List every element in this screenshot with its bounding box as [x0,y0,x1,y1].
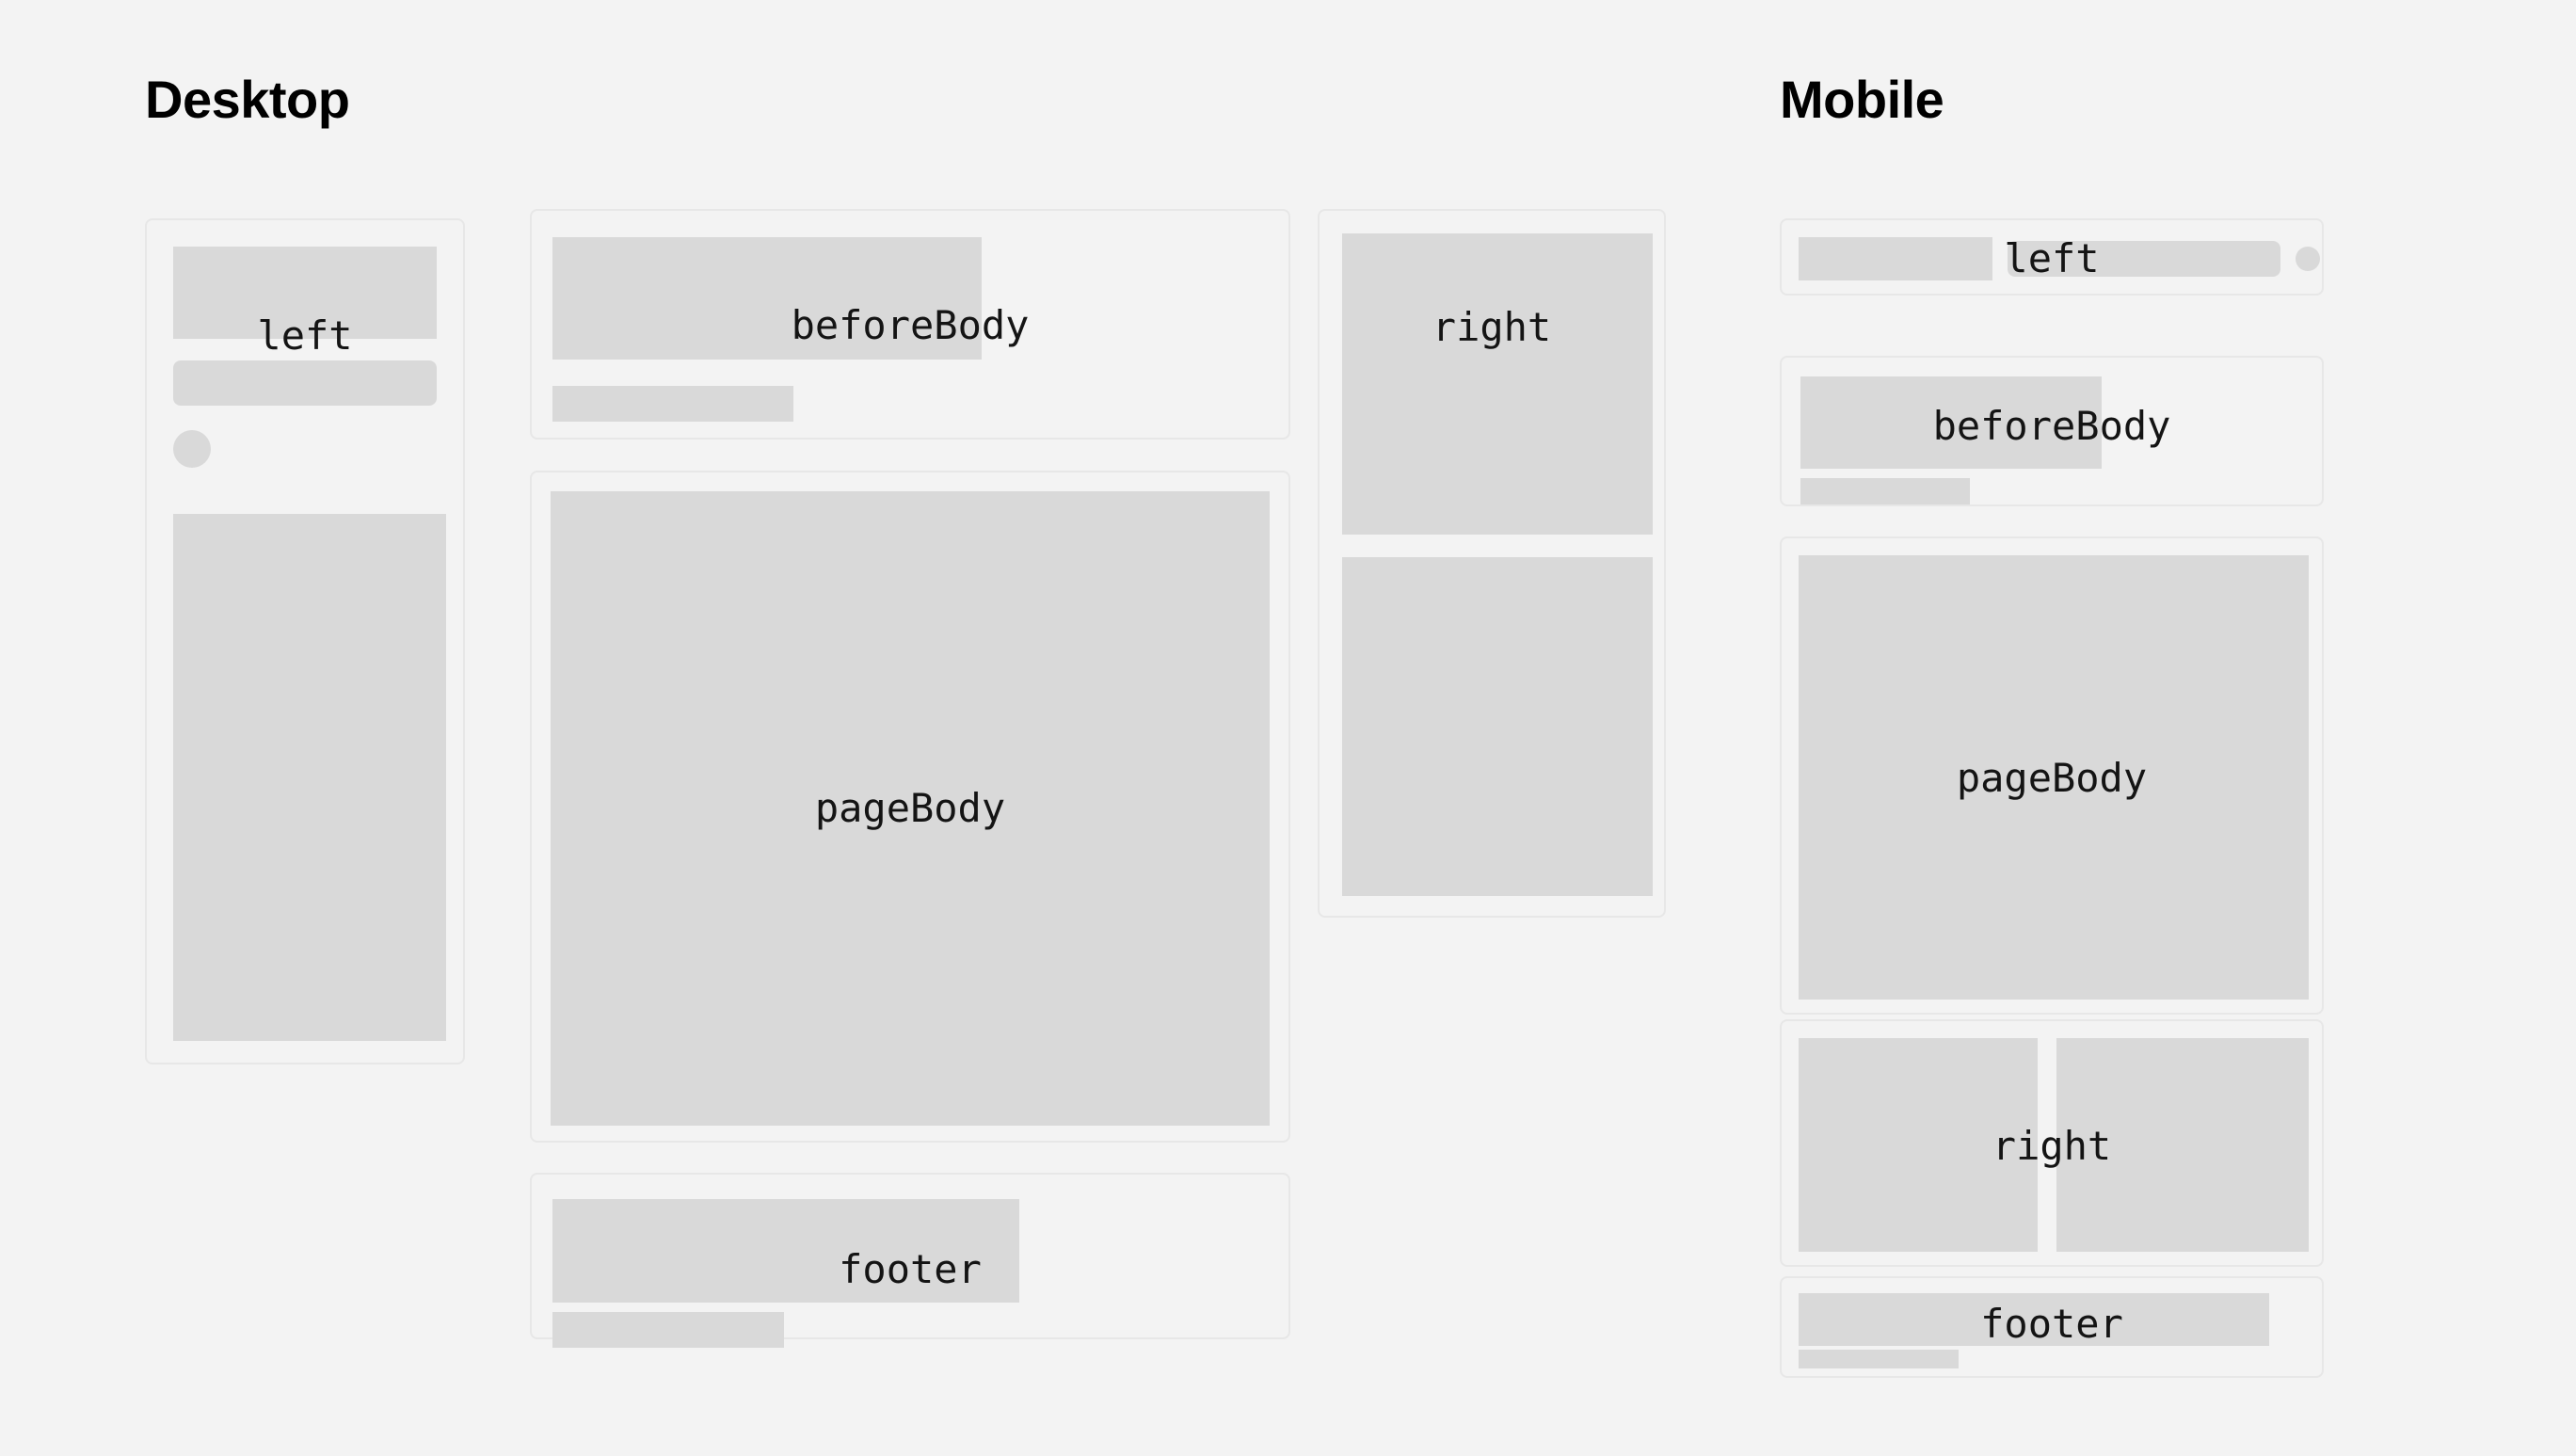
placeholder-block [173,514,446,1041]
desktop-region-pagebody[interactable]: pageBody [530,471,1290,1143]
placeholder-pill [173,360,437,406]
placeholder-block [1799,237,1992,280]
mobile-region-footer[interactable]: footer [1780,1276,2324,1378]
mobile-region-beforebody[interactable]: beforeBody [1780,356,2324,506]
placeholder-block [2056,1038,2309,1252]
placeholder-block [552,386,793,422]
mobile-region-left[interactable]: left [1780,218,2324,296]
placeholder-pill [2008,241,2280,277]
placeholder-block [1799,555,2309,1000]
placeholder-circle-icon [173,430,211,468]
mobile-region-pagebody[interactable]: pageBody [1780,536,2324,1015]
placeholder-block [1342,557,1653,896]
placeholder-block [1800,478,1970,504]
placeholder-block [1799,1350,1959,1368]
placeholder-block [552,1312,784,1348]
mobile-region-right[interactable]: right [1780,1019,2324,1267]
placeholder-block [551,491,1270,1126]
desktop-region-footer[interactable]: footer [530,1173,1290,1339]
desktop-region-beforebody[interactable]: beforeBody [530,209,1290,440]
placeholder-block [552,237,982,360]
placeholder-block [1799,1293,2269,1346]
page-title-desktop: Desktop [145,73,349,126]
desktop-region-right[interactable]: right [1318,209,1666,918]
placeholder-block [552,1199,1019,1303]
desktop-region-left[interactable]: left [145,218,465,1064]
page-title-mobile: Mobile [1780,73,1944,126]
placeholder-block [1342,233,1653,535]
placeholder-circle-icon [2296,247,2320,271]
placeholder-block [173,247,437,339]
placeholder-block [1800,376,2102,469]
placeholder-block [1799,1038,2038,1252]
